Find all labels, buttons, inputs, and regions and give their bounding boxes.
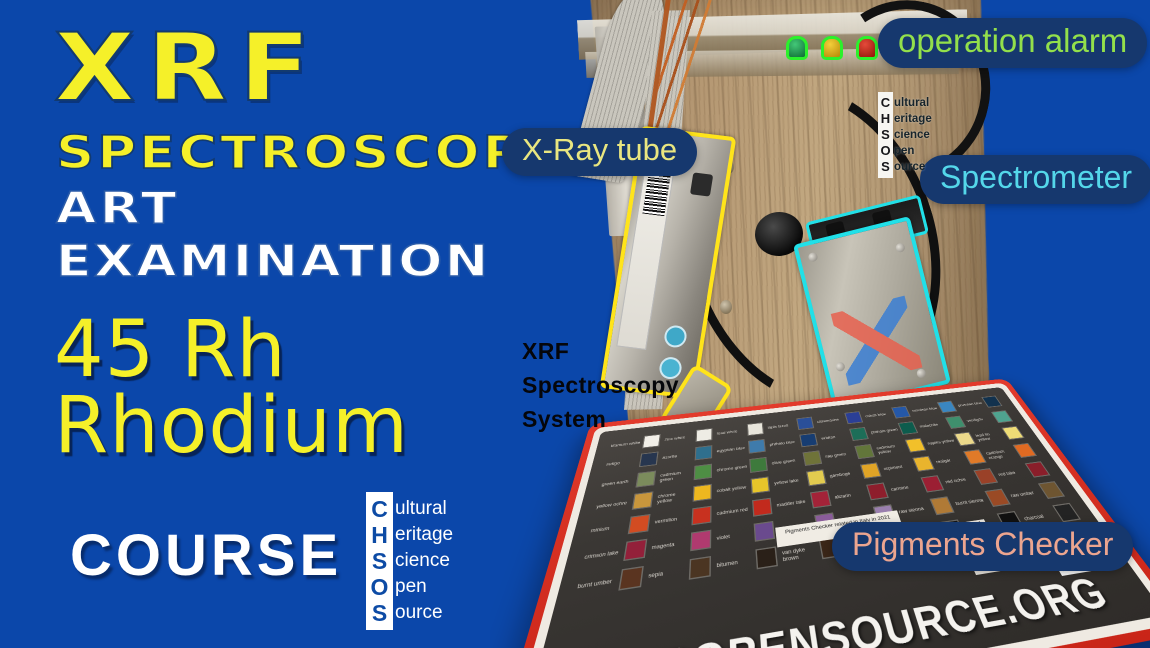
watermark-acronym-strip: C H S O S	[878, 92, 893, 178]
watermark-word-cultural: ultural	[894, 95, 932, 111]
pigment-swatch-cell: indigo	[605, 451, 659, 473]
pigment-swatch-cell: magenta	[650, 528, 711, 558]
pigment-swatch-color	[754, 521, 775, 542]
pigment-swatch-cell: cadmium green	[659, 463, 712, 486]
pigment-swatch-label: cadmium yellow	[876, 442, 907, 454]
pigment-swatch-label: realgar	[935, 456, 966, 464]
pigment-swatch-label: bitumen	[717, 556, 754, 568]
pigment-swatch-label: verdigris	[966, 416, 994, 423]
pigment-swatch-label: lapis lazuli	[767, 422, 795, 429]
pigment-swatch-cell: lead white	[717, 422, 764, 441]
pigment-swatch-label: magenta	[651, 539, 688, 551]
watermark-words: ultural eritage cience pen ource	[893, 92, 932, 178]
pigment-swatch-cell: chrome yellow	[656, 483, 711, 508]
pigment-swatch-cell: burnt umber	[575, 565, 644, 599]
pigment-swatch-color	[693, 484, 712, 502]
chsos-letter-h: H	[371, 522, 388, 548]
pigment-swatch-label: indigo	[606, 458, 638, 466]
course-label: COURSE	[70, 527, 342, 585]
pigment-swatch-color	[694, 464, 712, 481]
pigment-swatch-cell: verdigris	[963, 410, 1013, 428]
watermark-word-open: pen	[894, 143, 932, 159]
pigment-swatch-cell: raw sienna	[896, 495, 956, 521]
callout-xrf-system: XRF Spectroscopy System	[522, 334, 679, 436]
pigment-swatch-cell: phthalo blue	[769, 432, 818, 452]
pigment-swatch-color	[635, 471, 656, 488]
pigment-swatch-color	[755, 546, 778, 569]
pigment-swatch-color	[696, 428, 713, 442]
system-label-line1: XRF	[522, 334, 679, 368]
chsos-word-cultural: ultural	[395, 496, 453, 522]
pigment-swatch-label: phthalo blue	[769, 439, 798, 447]
pigment-swatch-cell: olive green	[771, 450, 823, 472]
watermark-letter-o: O	[880, 143, 890, 159]
pigment-swatch-color	[695, 445, 713, 460]
pigment-swatch-cell: alizarin	[833, 481, 890, 506]
pigment-swatch-cell: lead tin yellow	[973, 425, 1026, 444]
pigment-swatch-color	[854, 444, 875, 459]
pigment-swatch-color	[973, 468, 998, 485]
chsos-logo: C H S O S ultural eritage cience pen our…	[366, 492, 453, 630]
pigment-swatch-cell: green earth	[600, 470, 657, 494]
pigment-swatch-label: sap green	[825, 451, 855, 459]
pigment-swatch-color	[937, 401, 957, 413]
pigment-swatch-cell: crimson lake	[582, 537, 648, 568]
pigment-swatch-label: red ochre	[944, 475, 976, 484]
pigment-swatch-color	[810, 490, 832, 508]
pigment-swatch-cell: malachite	[917, 415, 967, 433]
pigment-swatch-cell: madder lake	[776, 489, 832, 515]
pigment-swatch-color	[803, 450, 823, 466]
chsos-words: ultural eritage cience pen ource	[393, 492, 453, 630]
pigment-swatch-cell: ultramarine	[816, 410, 864, 428]
system-label-line2: Spectroscopy	[522, 368, 679, 402]
pigment-swatch-label: charcoal	[1023, 511, 1057, 521]
pigment-swatch-label: egyptian blue	[717, 445, 747, 453]
pigment-swatch-color	[954, 432, 976, 446]
pigment-swatch-color	[921, 475, 945, 492]
pigment-swatch-label: cobalt blue	[865, 411, 893, 418]
pigment-swatch-cell: realgar	[933, 448, 988, 469]
pigment-swatch-color	[751, 476, 770, 493]
pigment-swatch-label: carmine	[890, 483, 922, 492]
screw-br	[916, 368, 927, 379]
pigment-swatch-color	[689, 556, 711, 580]
pigment-swatch-color	[1025, 461, 1051, 477]
chsos-letter-s1: S	[372, 548, 387, 574]
pigment-swatch-label: prussian blue	[957, 401, 984, 407]
watermark-letter-s2: S	[881, 159, 890, 175]
red-lamp-icon	[856, 36, 878, 60]
pigment-swatch-cell: cadmium red	[717, 497, 773, 523]
pigment-swatch-label: burnt umber	[577, 577, 618, 590]
watermark-word-source: ource	[894, 159, 932, 175]
pigment-swatch-color	[929, 496, 954, 515]
pigment-swatch-label: phthalo green	[870, 427, 899, 434]
pigment-swatch-color	[748, 439, 766, 454]
pigment-swatch-cell: carmine	[888, 474, 945, 498]
pigment-swatch-label: madder lake	[776, 498, 809, 508]
pigment-swatch-label: cadmium red	[717, 506, 751, 516]
pigment-swatch-label: titanium white	[610, 440, 641, 448]
pigment-swatch-color	[945, 416, 966, 429]
pigment-swatch-cell: prussian blue	[955, 395, 1003, 412]
pigment-swatch-color	[623, 539, 647, 561]
chsos-letter-o: O	[371, 574, 389, 600]
pigment-swatch-label: lead white	[717, 428, 745, 435]
pigment-swatch-label: gamboge	[829, 470, 860, 479]
pigment-swatch-color	[806, 469, 827, 486]
pigment-swatch-label: viridian	[821, 433, 850, 440]
pigment-swatch-cell: violet	[717, 520, 776, 549]
pigment-swatch-label: cadmium orange	[985, 447, 1018, 459]
pigment-swatch-cell: cobalt blue	[863, 405, 911, 422]
pigment-swatch-cell: yellow lake	[773, 468, 827, 491]
pigment-swatch-cell: red lake	[994, 460, 1051, 483]
pigment-swatch-color	[860, 462, 882, 478]
pigment-swatch-color	[1038, 481, 1065, 499]
chsos-letter-s2: S	[372, 600, 387, 626]
pigment-swatch-color	[642, 434, 661, 448]
pigment-swatch-color	[752, 498, 772, 517]
callout-x-ray-tube: X-Ray tube	[502, 128, 697, 176]
pigment-swatch-cell: naples yellow	[924, 431, 976, 451]
pigment-swatch-label: chrome green	[717, 464, 748, 473]
pigment-swatch-cell: raw umber	[1006, 480, 1066, 505]
pigment-swatch-color	[844, 411, 863, 424]
tube-connector	[690, 172, 713, 196]
pigment-swatch-cell: egyptian blue	[717, 438, 766, 458]
watermark-word-heritage: eritage	[894, 111, 932, 127]
pigment-swatch-color	[963, 449, 987, 465]
pigment-swatch-cell: cadmium orange	[983, 442, 1038, 463]
subtitle-art: ART	[56, 187, 180, 231]
pigment-swatch-color	[796, 417, 814, 430]
watermark-letter-s1: S	[881, 127, 890, 143]
pigment-swatch-color	[749, 457, 768, 473]
pigment-swatch-cell: cerulean blue	[909, 400, 957, 417]
pigment-swatch-label: van dyke brown	[782, 544, 819, 562]
chsos-word-open: pen	[395, 574, 453, 600]
green-lamp-icon	[786, 36, 808, 60]
pigment-swatch-color	[690, 530, 711, 552]
pigment-swatch-color	[891, 406, 911, 419]
pigment-swatch-color	[905, 438, 927, 453]
pigment-swatch-label: alizarin	[834, 490, 867, 500]
watermark-letter-h: H	[881, 111, 890, 127]
pigment-swatch-cell: vermilion	[654, 505, 712, 532]
pigment-swatch-label: cobalt yellow	[717, 484, 749, 493]
watermark-word-science: cience	[894, 127, 932, 143]
pigment-swatch-cell: bitumen	[717, 545, 779, 577]
pigment-swatch-cell: cobalt yellow	[717, 475, 770, 499]
watermark-letter-c: C	[881, 95, 890, 111]
pigment-swatch-label: minium	[590, 523, 627, 534]
callout-pigments-checker: Pigments Checker	[832, 522, 1133, 571]
pigment-swatch-color	[912, 456, 935, 472]
chsos-word-science: cience	[395, 548, 453, 574]
chsos-watermark: C H S O S ultural eritage cience pen our…	[878, 92, 932, 178]
pigment-swatch-label: violet	[717, 530, 752, 541]
pigment-swatch-color	[991, 410, 1013, 423]
pigment-swatch-label: chrome yellow	[657, 489, 691, 504]
chsos-word-source: ource	[395, 600, 453, 626]
pigment-swatch-color	[799, 433, 818, 447]
pigment-swatch-cell: titanium white	[609, 433, 661, 453]
pigment-swatch-cell: chrome green	[717, 456, 768, 478]
pigment-swatch-label: yellow lake	[774, 477, 806, 486]
pigment-swatch-label: naples yellow	[927, 438, 956, 446]
pigment-swatch-cell: minium	[588, 513, 650, 541]
pigment-swatch-label: olive green	[771, 457, 801, 465]
chsos-word-heritage: eritage	[395, 522, 453, 548]
pigment-swatch-label: burnt sienna	[954, 497, 987, 507]
poster-canvas: XRF SPECTROSCOPY ART EXAMINATION 45 Rh R…	[0, 0, 1150, 648]
pigment-swatch-color	[849, 427, 869, 441]
pigment-swatch-cell: azurite	[661, 444, 712, 465]
pigment-swatch-color	[628, 514, 651, 534]
pigment-swatch-color	[747, 422, 764, 436]
pigment-swatch-label: orpiment	[883, 463, 914, 471]
element-heading: 45 Rh Rhodium	[54, 312, 409, 465]
pigment-swatch-label: yellow ochre	[596, 499, 631, 509]
pigment-swatch-label: lead tin yellow	[974, 430, 1006, 441]
pigment-swatch-cell: viridian	[819, 426, 869, 445]
screw-tr	[895, 242, 906, 253]
chsos-letter-c: C	[371, 496, 388, 522]
pigment-swatch-color	[866, 482, 889, 500]
pigment-swatch-label: vermilion	[654, 514, 689, 524]
screw-tl	[808, 252, 819, 263]
system-label-line3: System	[522, 402, 679, 436]
callout-spectrometer: Spectrometer	[920, 155, 1150, 204]
pigment-swatch-cell: red ochre	[942, 467, 999, 490]
pigment-swatch-label: crimson lake	[584, 548, 623, 560]
pigment-swatch-label: raw umber	[1009, 489, 1042, 498]
pigment-swatch-color	[618, 566, 644, 591]
pigment-swatch-cell: sap green	[823, 443, 875, 464]
pigment-swatch-cell: phthalo green	[869, 420, 919, 439]
pigment-swatch-color	[691, 506, 711, 526]
pigment-swatch-cell: sepia	[647, 555, 711, 588]
pigment-swatch-color	[984, 489, 1010, 507]
callout-operation-alarm: operation alarm	[878, 18, 1147, 68]
pigment-swatch-label: sepia	[648, 566, 687, 579]
pigment-swatch-cell: orpiment	[881, 455, 935, 477]
pigment-swatch-cell: lapis lazuli	[767, 416, 815, 434]
pigment-swatch-color	[1052, 503, 1081, 522]
pigment-swatch-cell: burnt sienna	[951, 488, 1011, 513]
pigment-swatch-label: malachite	[919, 421, 947, 428]
pigment-swatch-color	[639, 452, 659, 468]
pigment-swatch-color	[898, 421, 919, 435]
pigment-swatch-label: green earth	[601, 478, 635, 487]
yellow-lamp-icon	[821, 36, 843, 60]
pigment-swatch-cell: cadmium yellow	[875, 437, 927, 457]
pigment-swatch-label: azurite	[662, 452, 693, 460]
pigment-swatch-label: cerulean blue	[911, 406, 938, 413]
pigment-swatch-color	[981, 396, 1002, 408]
pigment-swatch-cell: yellow ochre	[594, 490, 653, 516]
pigment-swatch-label: cadmium green	[659, 468, 691, 482]
pigment-swatch-cell: gamboge	[828, 462, 882, 485]
page-title: XRF	[54, 22, 322, 116]
pigment-swatch-label: raw sienna	[898, 505, 932, 515]
chsos-acronym-strip: C H S O S	[366, 492, 393, 630]
pigment-swatch-label: ultramarine	[817, 417, 845, 424]
subtitle-examination: EXAMINATION	[56, 240, 491, 284]
element-name-line: Rhodium	[54, 388, 409, 464]
spectrometer-logo-icon	[831, 296, 923, 386]
pigment-swatch-label: red lake	[997, 468, 1029, 477]
pigment-swatch-color	[632, 491, 654, 510]
